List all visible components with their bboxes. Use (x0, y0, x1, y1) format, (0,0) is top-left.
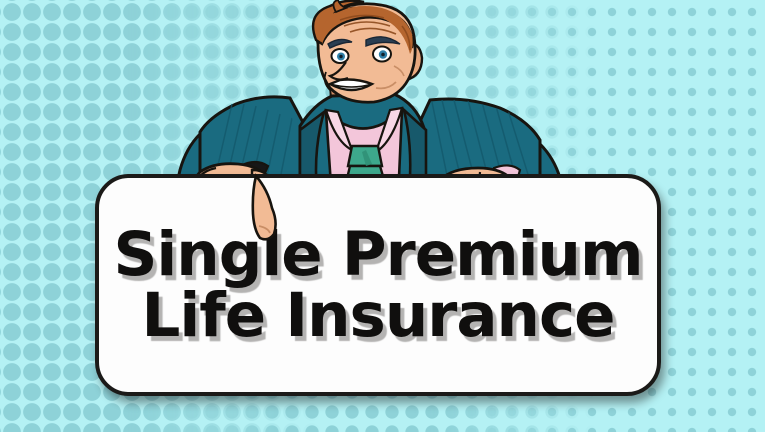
headline-line-2: Life Insurance (113, 287, 642, 344)
poster-canvas: Single Premium Life Insurance (0, 0, 765, 432)
headline-line-1: Single Premium (113, 226, 642, 283)
board-headline: Single Premium Life Insurance (113, 226, 642, 345)
sign-board: Single Premium Life Insurance (95, 174, 661, 396)
